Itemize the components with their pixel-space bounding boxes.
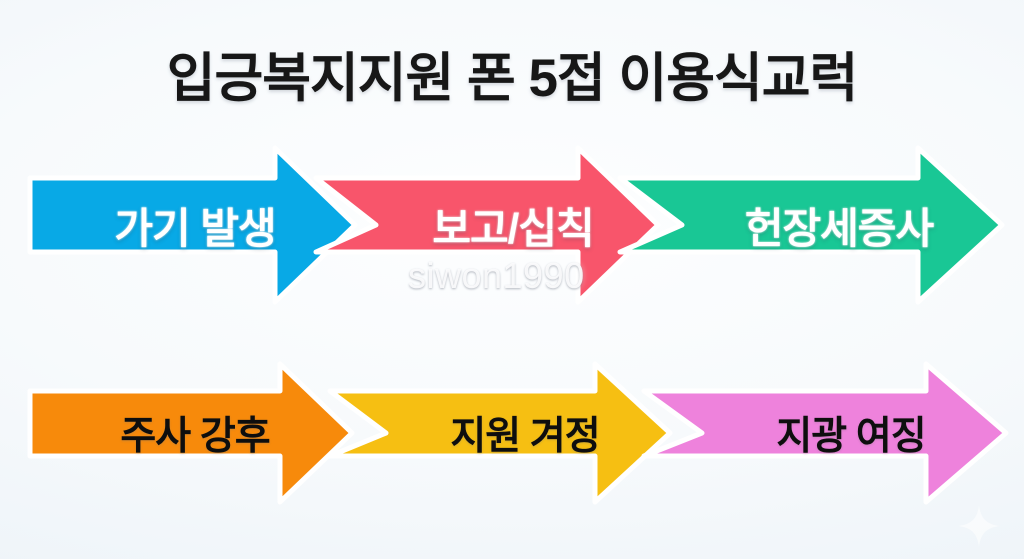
flow-step-2[interactable]: 보고/십칙 [316, 140, 666, 310]
flow-step-3[interactable]: 헌장세증사 [620, 140, 1010, 310]
flow-row-bottom: 주사 강후 지원 겨정 지광 여징 [0, 358, 1024, 508]
arrow-right-icon [30, 140, 360, 310]
diagram-canvas: 입긍복지지원 폰 5접 이용식교럭 가기 발생 보고/십칙 [0, 0, 1024, 559]
page-title: 입긍복지지원 폰 5접 이용식교럭 [0, 36, 1024, 112]
flow-row-top: 가기 발생 보고/십칙 헌장세증사 [0, 140, 1024, 310]
arrow-right-icon [330, 358, 680, 508]
flow-step-1[interactable]: 가기 발생 [30, 140, 360, 310]
arrow-right-icon [30, 358, 360, 508]
arrow-right-icon [316, 140, 666, 310]
flow-step-6[interactable]: 지광 여징 [644, 358, 1014, 508]
flow-step-5[interactable]: 지원 겨정 [330, 358, 680, 508]
flow-step-4[interactable]: 주사 강후 [30, 358, 360, 508]
arrow-right-icon [620, 140, 1010, 310]
arrow-right-icon [644, 358, 1014, 508]
sparkle-icon [956, 503, 1002, 549]
